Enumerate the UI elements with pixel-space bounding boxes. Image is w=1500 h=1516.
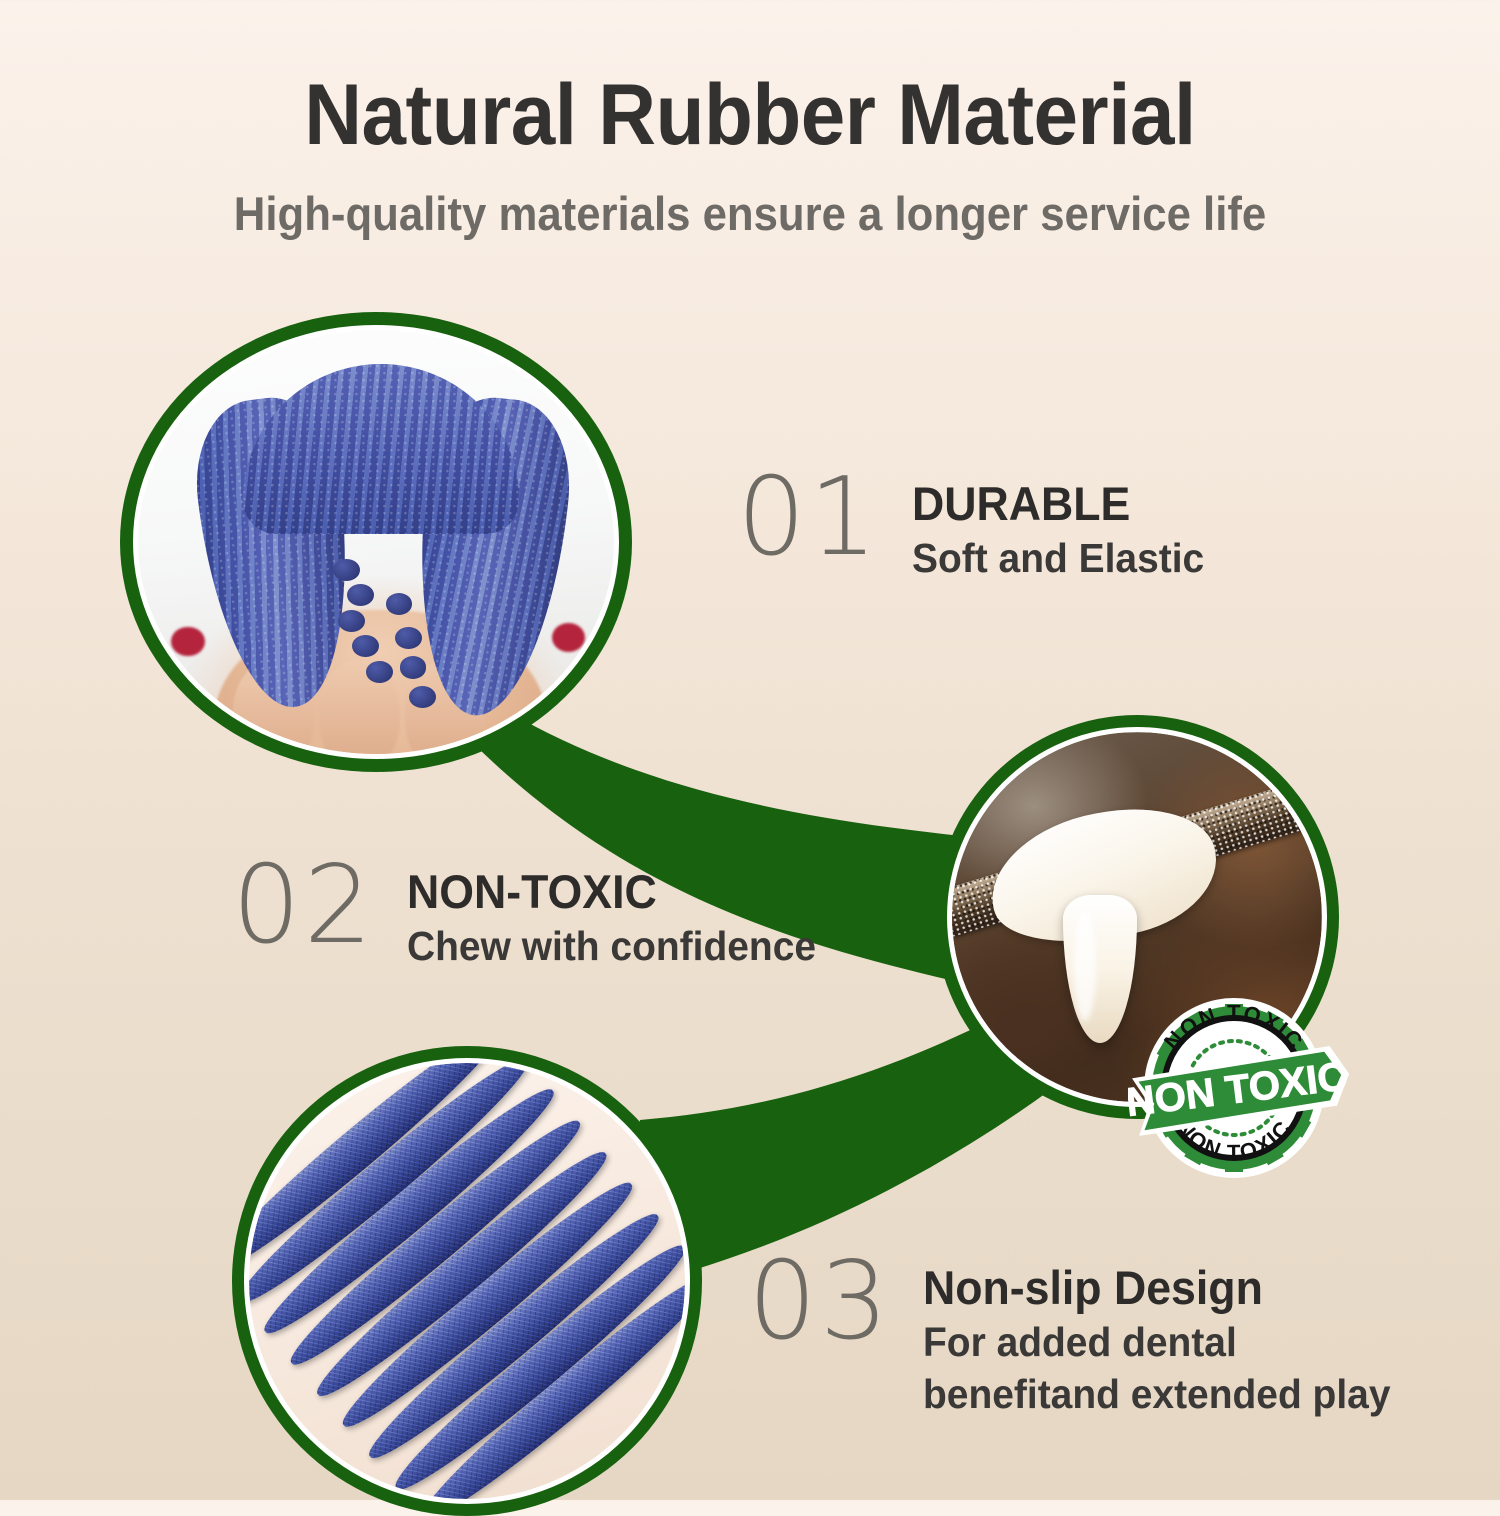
- feature-block-1: 01 DURABLE Soft and Elastic: [737, 468, 1220, 583]
- feature-number-3: 03: [748, 1252, 891, 1351]
- feature-image-circle-1: [120, 312, 632, 772]
- feature-image-1-frame: [138, 330, 614, 754]
- feature-heading-2: NON-TOXIC: [407, 864, 816, 919]
- feature-image-3-frame: [249, 1063, 685, 1499]
- feature-heading-3: Non-slip Design: [923, 1260, 1391, 1315]
- feature-number-1: 01: [737, 468, 880, 567]
- feature-heading-1: DURABLE: [912, 476, 1204, 531]
- infographic-canvas: Natural Rubber Material High-quality mat…: [0, 0, 1500, 1500]
- feature-number-2: 02: [232, 856, 375, 955]
- product-photo-ribbed-roller: [249, 1063, 685, 1499]
- feature-block-3: 03 Non-slip Design For added dental bene…: [748, 1252, 1416, 1418]
- non-toxic-badge: NON TOXIC NON TOXIC NON TOXIC: [1128, 988, 1356, 1180]
- feature-subheading-3-line2: benefitand extended play: [923, 1371, 1391, 1419]
- feature-subheading-1: Soft and Elastic: [912, 535, 1204, 583]
- feature-block-2: 02 NON-TOXIC Chew with confidence: [232, 856, 838, 971]
- feature-image-circle-3: [232, 1046, 702, 1516]
- feature-subheading-3-line1: For added dental: [923, 1319, 1391, 1367]
- feature-subheading-2: Chew with confidence: [407, 923, 816, 971]
- product-photo-u-toy: [138, 330, 614, 754]
